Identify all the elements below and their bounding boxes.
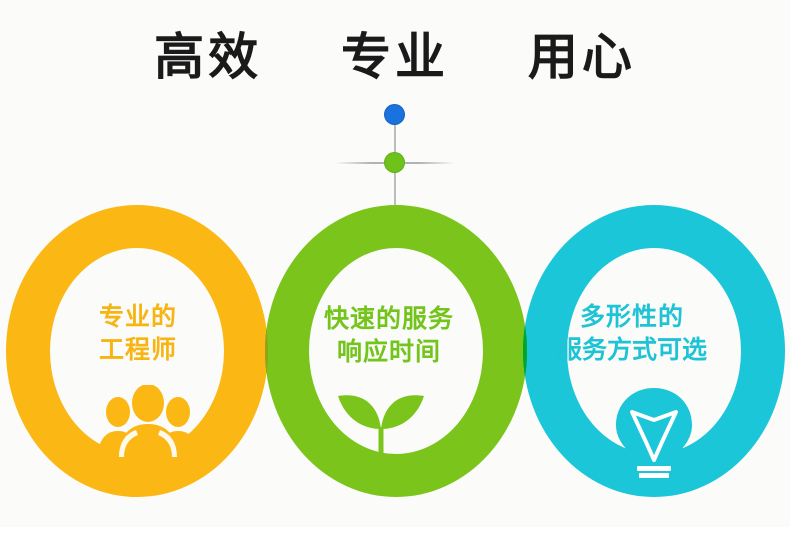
circle-label-service-options-line2: 服务方式可选 — [528, 333, 736, 366]
lightbulb-icon — [604, 386, 704, 482]
sprout-icon-svg — [322, 382, 440, 474]
infographic-canvas: 高效 专业 用心 — [0, 0, 790, 557]
circle-label-response-time-line1: 快速的服务 — [296, 302, 482, 335]
people-group-icon — [93, 385, 203, 461]
circle-label-response-time-line2: 响应时间 — [296, 335, 482, 368]
circle-label-engineers-line2: 工程师 — [58, 333, 218, 366]
circle-label-response-time: 快速的服务 响应时间 — [296, 302, 482, 368]
lightbulb-icon-svg — [604, 386, 704, 478]
circle-label-service-options: 多形性的 服务方式可选 — [528, 300, 736, 366]
circle-label-service-options-line1: 多形性的 — [528, 300, 736, 333]
circle-label-engineers: 专业的 工程师 — [58, 300, 218, 366]
sprout-icon — [322, 382, 440, 478]
circle-label-engineers-line1: 专业的 — [58, 300, 218, 333]
people-group-icon-svg — [93, 385, 203, 457]
